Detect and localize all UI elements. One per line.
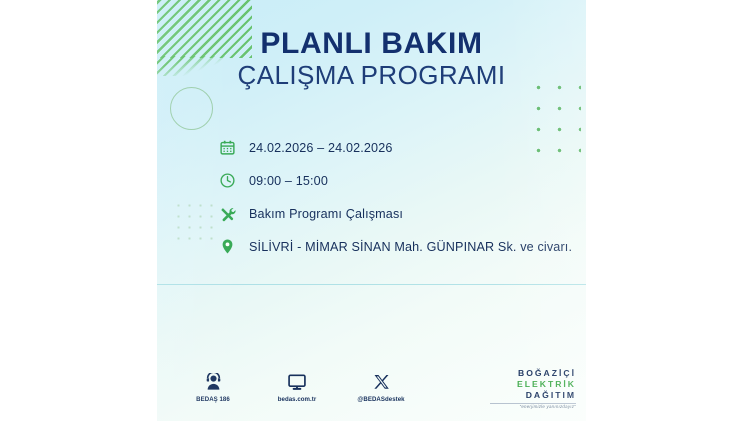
contact-phone-label: BEDAŞ 186 (182, 396, 244, 403)
dot-grid-left-decoration (173, 200, 218, 245)
detail-date-text: 24.02.2026 – 24.02.2026 (249, 141, 393, 155)
contact-phone[interactable]: BEDAŞ 186 (182, 366, 244, 403)
contact-website[interactable]: bedas.com.tr (266, 366, 328, 403)
tools-icon (219, 205, 249, 223)
circle-outline-decoration (170, 87, 213, 130)
contact-x-twitter[interactable]: @BEDASdestek (350, 366, 412, 403)
page-subtitle: ÇALIŞMA PROGRAMI (157, 61, 586, 89)
brand-tagline: "enerjimizle yanınızdayız" (490, 404, 576, 409)
page-title: PLANLI BAKIM (157, 28, 586, 59)
brand-line-1: BOĞAZİÇİ (490, 368, 576, 379)
x-twitter-icon (350, 366, 412, 392)
detail-time-text: 09:00 – 15:00 (249, 174, 328, 188)
page-background: PLANLI BAKIM ÇALIŞMA PROGRAMI (0, 0, 750, 421)
detail-row-time: 09:00 – 15:00 (219, 164, 579, 197)
contact-x-label: @BEDASdestek (350, 396, 412, 403)
calendar-icon (219, 139, 249, 156)
brand-line-3: DAĞITIM (490, 390, 576, 401)
poster-footer: BEDAŞ 186 bedas.com.tr (157, 366, 586, 416)
section-divider (157, 284, 586, 285)
contact-website-label: bedas.com.tr (266, 396, 328, 403)
brand-logo: BOĞAZİÇİ ELEKTRİK DAĞITIM "enerjimizle y… (490, 368, 576, 409)
poster-heading-block: PLANLI BAKIM ÇALIŞMA PROGRAMI (157, 28, 586, 89)
monitor-icon (266, 366, 328, 392)
location-pin-icon (219, 238, 249, 255)
detail-row-work-type: Bakım Programı Çalışması (219, 197, 579, 230)
support-agent-icon (182, 366, 244, 392)
clock-icon (219, 172, 249, 189)
detail-row-date: 24.02.2026 – 24.02.2026 (219, 131, 579, 164)
brand-line-2: ELEKTRİK (490, 379, 576, 390)
maintenance-notice-poster: PLANLI BAKIM ÇALIŞMA PROGRAMI (157, 0, 586, 421)
detail-row-location: SİLİVRİ - MİMAR SİNAN Mah. GÜNPINAR Sk. … (219, 230, 579, 263)
brand-divider (490, 403, 576, 404)
detail-location-text: SİLİVRİ - MİMAR SİNAN Mah. GÜNPINAR Sk. … (249, 240, 572, 254)
detail-work-type-text: Bakım Programı Çalışması (249, 207, 403, 221)
contact-channels: BEDAŞ 186 bedas.com.tr (182, 366, 412, 403)
maintenance-details-list: 24.02.2026 – 24.02.2026 09:00 – 15:00 (219, 131, 579, 263)
